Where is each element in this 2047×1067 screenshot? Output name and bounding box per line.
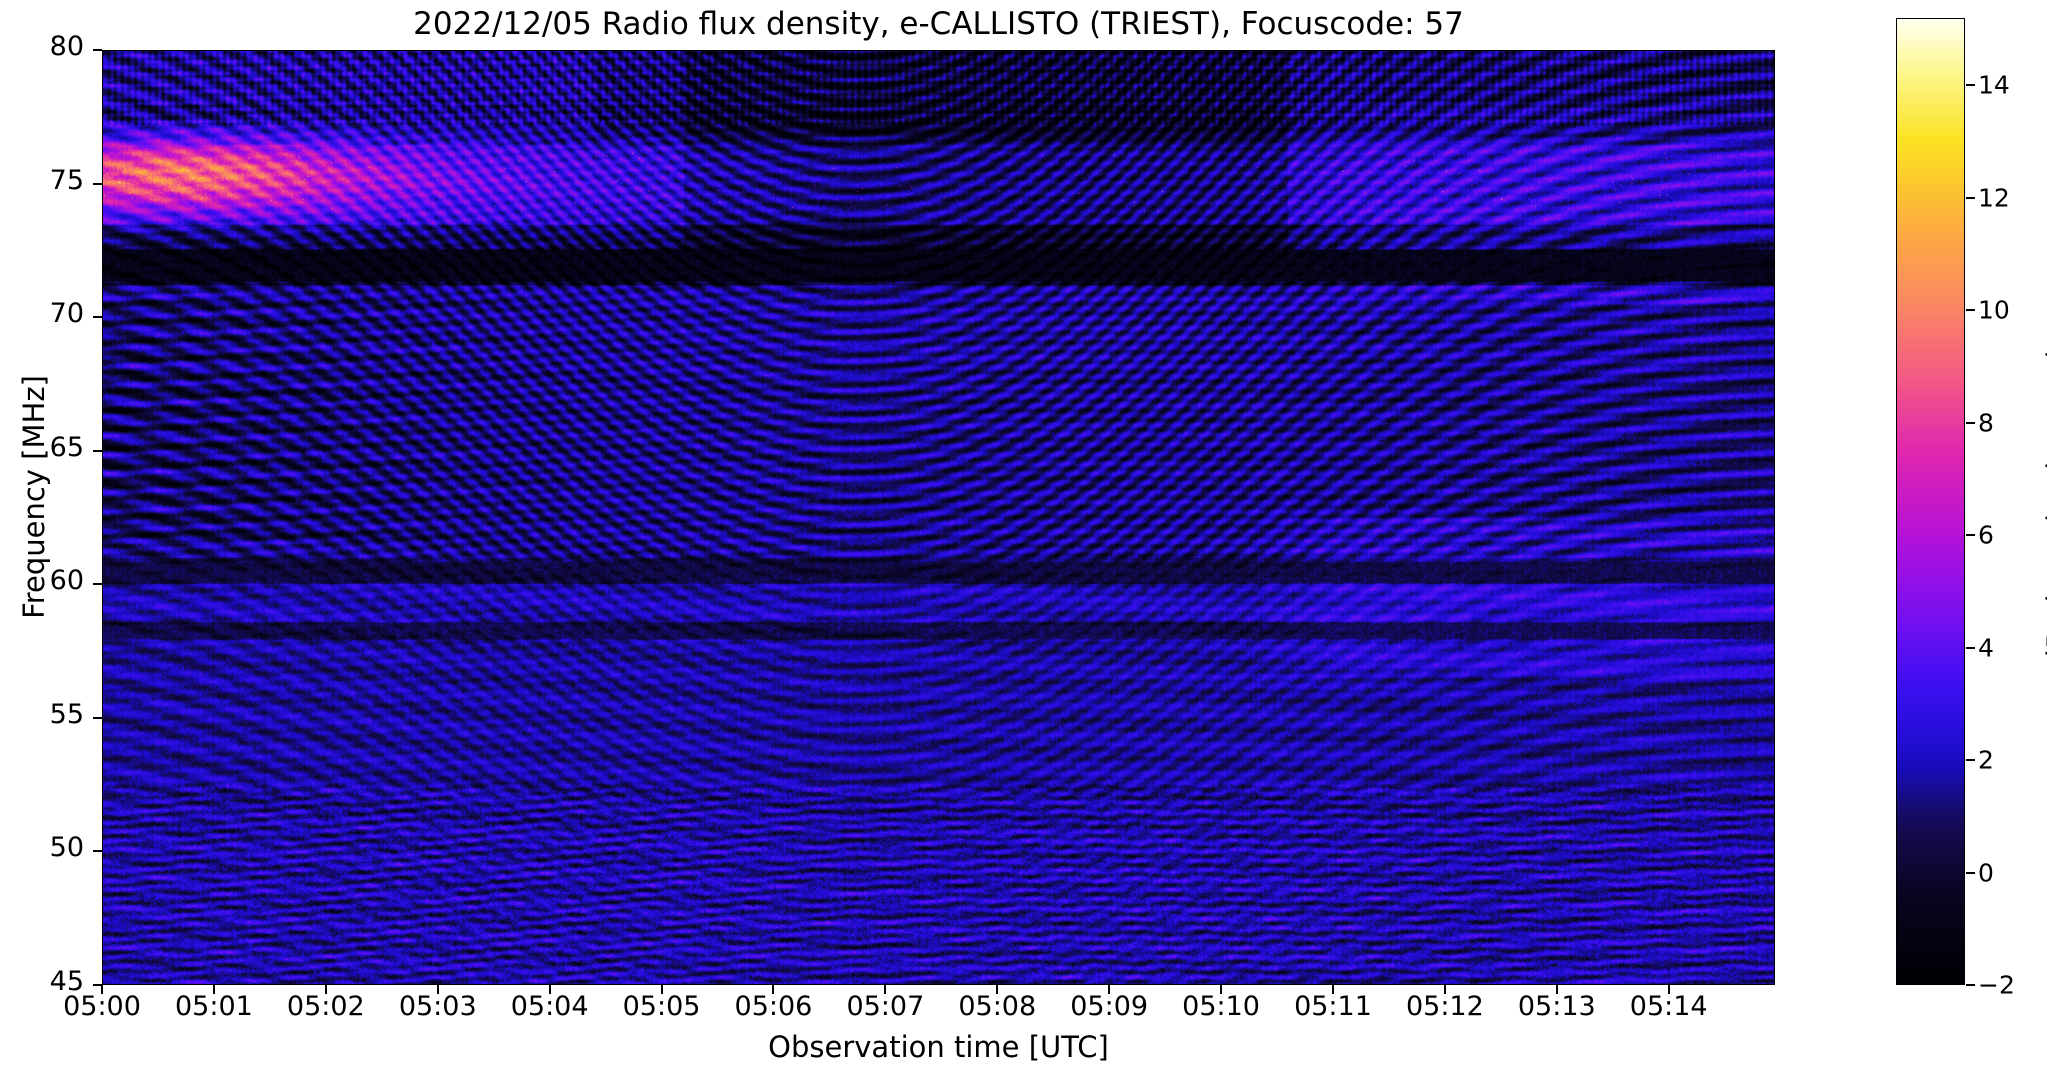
x-tick-label: 05:08 bbox=[958, 991, 1036, 1022]
y-tick-label: 65 bbox=[0, 432, 84, 463]
y-tick-label: 75 bbox=[0, 165, 84, 196]
y-tick-mark bbox=[93, 850, 102, 852]
x-axis-label: Observation time [UTC] bbox=[102, 1030, 1775, 1064]
spectrogram-image bbox=[103, 51, 1774, 984]
y-tick-mark bbox=[93, 183, 102, 185]
colorbar bbox=[1896, 18, 1965, 985]
y-tick-label: 55 bbox=[0, 699, 84, 730]
colorbar-tick-label: −2 bbox=[1978, 971, 2015, 1000]
x-tick-label: 05:11 bbox=[1294, 991, 1372, 1022]
x-tick-label: 05:09 bbox=[1070, 991, 1148, 1022]
colorbar-tick-label: 4 bbox=[1978, 633, 1994, 662]
colorbar-label: dB above background bbox=[2041, 159, 2047, 859]
x-tick-label: 05:00 bbox=[63, 991, 141, 1022]
colorbar-tick-mark bbox=[1966, 647, 1975, 649]
colorbar-tick-mark bbox=[1966, 759, 1975, 761]
colorbar-tick-label: 2 bbox=[1978, 746, 1994, 775]
colorbar-tick-mark bbox=[1966, 872, 1975, 874]
colorbar-tick-mark bbox=[1966, 84, 1975, 86]
x-tick-label: 05:03 bbox=[399, 991, 477, 1022]
y-tick-mark bbox=[93, 450, 102, 452]
colorbar-tick-label: 12 bbox=[1978, 183, 2010, 212]
y-tick-mark bbox=[93, 583, 102, 585]
y-tick-mark bbox=[93, 49, 102, 51]
colorbar-tick-label: 8 bbox=[1978, 408, 1994, 437]
x-tick-label: 05:04 bbox=[511, 991, 589, 1022]
y-axis-label: Frequency [MHz] bbox=[17, 117, 51, 877]
spectrogram-plot-area bbox=[102, 50, 1775, 985]
y-tick-mark bbox=[93, 717, 102, 719]
colorbar-tick-label: 0 bbox=[1978, 858, 1994, 887]
spectrogram-figure: 2022/12/05 Radio flux density, e-CALLIST… bbox=[0, 0, 2047, 1067]
y-tick-label: 50 bbox=[0, 832, 84, 863]
x-tick-label: 05:10 bbox=[1182, 991, 1260, 1022]
colorbar-tick-mark bbox=[1966, 197, 1975, 199]
colorbar-gradient bbox=[1897, 19, 1964, 984]
colorbar-tick-mark bbox=[1966, 534, 1975, 536]
page-title: 2022/12/05 Radio flux density, e-CALLIST… bbox=[102, 6, 1775, 42]
y-tick-label: 60 bbox=[0, 565, 84, 596]
x-tick-label: 05:14 bbox=[1630, 991, 1708, 1022]
x-tick-label: 05:01 bbox=[175, 991, 253, 1022]
colorbar-tick-label: 14 bbox=[1978, 71, 2010, 100]
x-tick-label: 05:02 bbox=[287, 991, 365, 1022]
y-tick-label: 80 bbox=[0, 31, 84, 62]
x-tick-label: 05:06 bbox=[735, 991, 813, 1022]
y-tick-label: 70 bbox=[0, 298, 84, 329]
x-tick-label: 05:05 bbox=[623, 991, 701, 1022]
x-tick-label: 05:13 bbox=[1518, 991, 1596, 1022]
colorbar-tick-label: 6 bbox=[1978, 521, 1994, 550]
colorbar-tick-mark bbox=[1966, 309, 1975, 311]
colorbar-tick-mark bbox=[1966, 984, 1975, 986]
y-tick-mark bbox=[93, 316, 102, 318]
x-tick-label: 05:12 bbox=[1406, 991, 1484, 1022]
x-tick-label: 05:07 bbox=[846, 991, 924, 1022]
colorbar-tick-mark bbox=[1966, 422, 1975, 424]
colorbar-tick-label: 10 bbox=[1978, 296, 2010, 325]
